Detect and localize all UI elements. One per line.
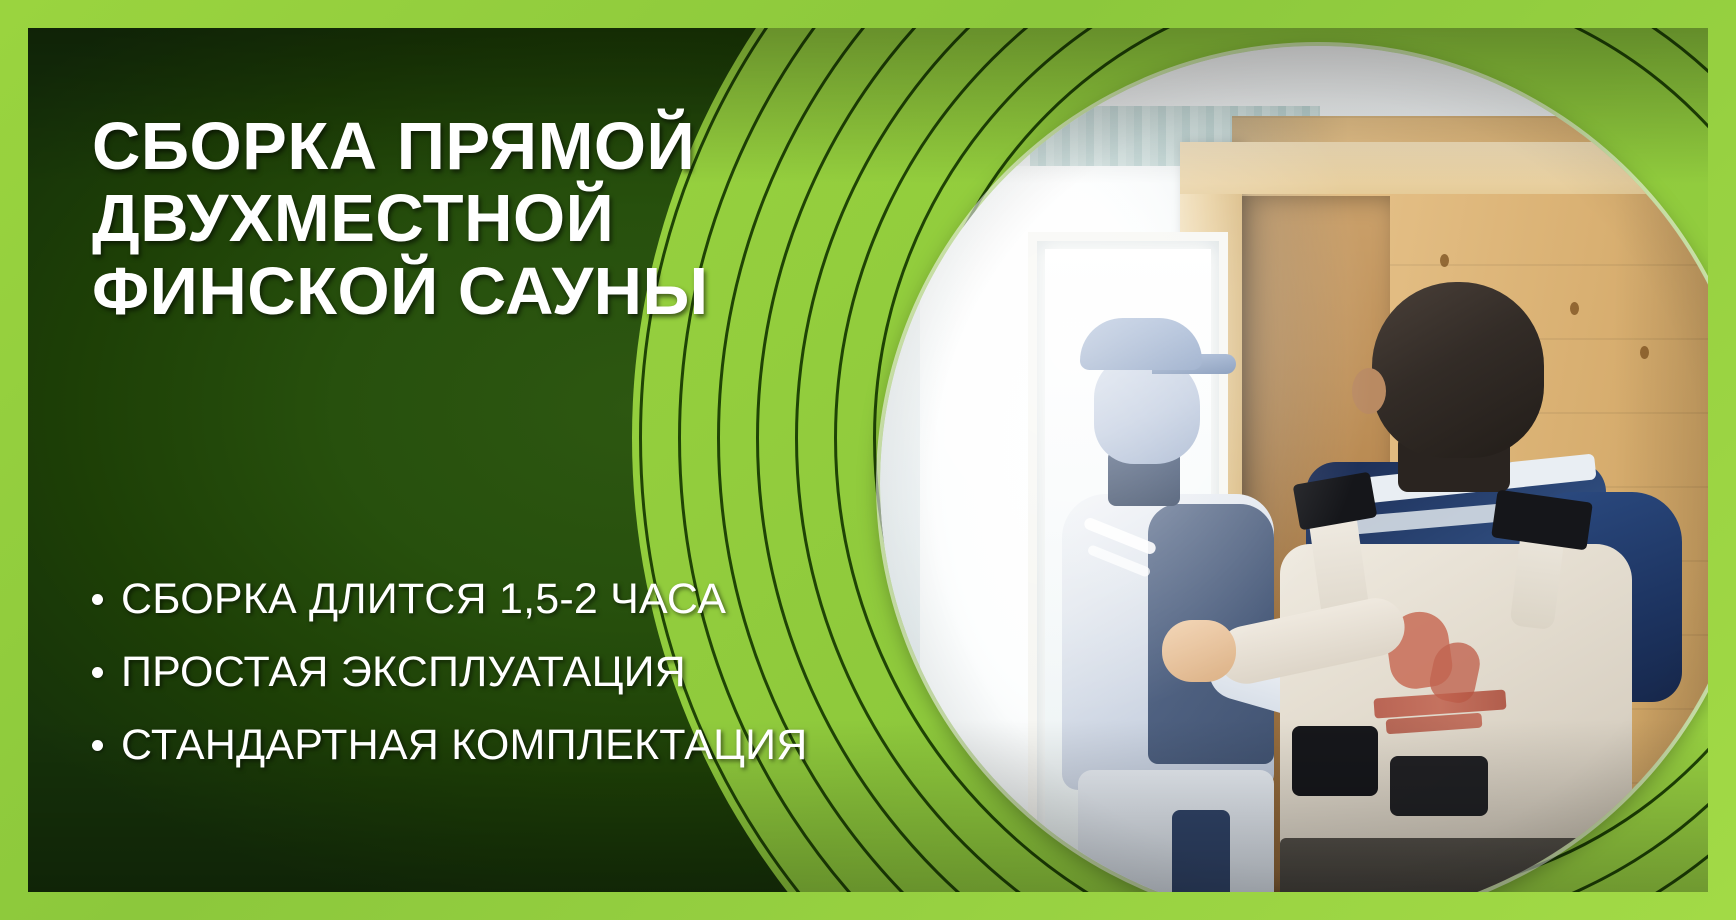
- list-item: ПРОСТАЯ ЭКСПЛУАТАЦИЯ: [92, 651, 872, 694]
- worker2-head: [1372, 282, 1544, 458]
- list-item: СТАНДАРТНАЯ КОМПЛЕКТАЦИЯ: [92, 724, 872, 767]
- list-item-label: СТАНДАРТНАЯ КОМПЛЕКТАЦИЯ: [121, 724, 808, 767]
- promo-banner: СБОРКА ПРЯМОЙ ДВУХМЕСТНОЙ ФИНСКОЙ САУНЫ …: [0, 0, 1736, 920]
- worker-in-overalls: [1280, 282, 1708, 892]
- content-panel: СБОРКА ПРЯМОЙ ДВУХМЕСТНОЙ ФИНСКОЙ САУНЫ …: [28, 28, 1708, 892]
- list-item-label: СБОРКА ДЛИТСЯ 1,5-2 ЧАСА: [121, 578, 726, 621]
- text-content: СБОРКА ПРЯМОЙ ДВУХМЕСТНОЙ ФИНСКОЙ САУНЫ …: [64, 28, 854, 892]
- list-item: СБОРКА ДЛИТСЯ 1,5-2 ЧАСА: [92, 578, 872, 621]
- list-item-label: ПРОСТАЯ ЭКСПЛУАТАЦИЯ: [121, 651, 686, 694]
- worker2-lower-body: [1280, 838, 1632, 892]
- bullet-dot-icon: [92, 740, 103, 751]
- worker2-black-patch: [1390, 756, 1488, 816]
- sauna-assembly-photo: [880, 46, 1708, 892]
- worker2-ear: [1352, 368, 1386, 414]
- worker1-cap: [1080, 318, 1202, 370]
- feature-list: СБОРКА ДЛИТСЯ 1,5-2 ЧАСА ПРОСТАЯ ЭКСПЛУА…: [92, 578, 872, 797]
- photo-scene: [880, 46, 1708, 892]
- bullet-dot-icon: [92, 667, 103, 678]
- headline-line-3: ФИНСКОЙ САУНЫ: [92, 256, 832, 328]
- page-title: СБОРКА ПРЯМОЙ ДВУХМЕСТНОЙ ФИНСКОЙ САУНЫ: [92, 111, 832, 328]
- headline-line-2: ДВУХМЕСТНОЙ: [92, 183, 832, 255]
- worker-with-cap: [1056, 318, 1286, 892]
- cabin-top-rail: [1180, 142, 1708, 194]
- worker1-pocket: [1172, 810, 1230, 892]
- wood-knot-icon: [1440, 254, 1449, 267]
- bullet-dot-icon: [92, 594, 103, 605]
- worker2-hand: [1162, 620, 1236, 682]
- headline-line-1: СБОРКА ПРЯМОЙ: [92, 111, 832, 183]
- worker2-black-patch: [1292, 726, 1378, 796]
- logo-text-block: [1373, 689, 1506, 718]
